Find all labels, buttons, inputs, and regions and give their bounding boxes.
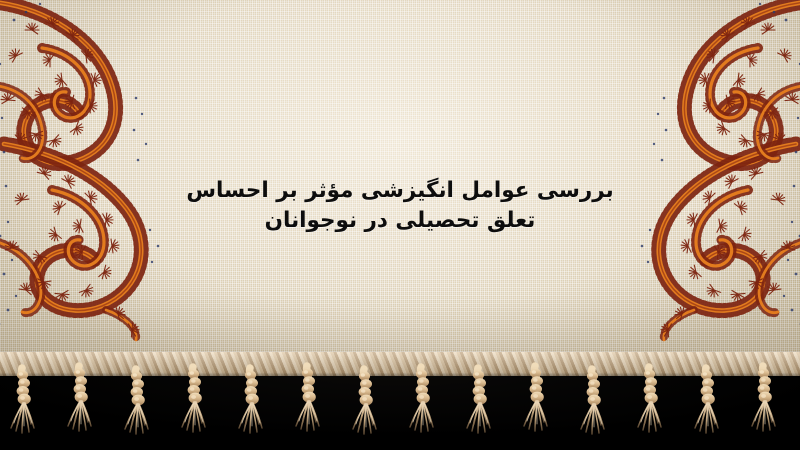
slide-title: بررسی عوامل انگیزشی مؤثر بر احساس تعلق ت… — [0, 176, 800, 236]
black-background-field — [0, 368, 800, 450]
title-slide: بررسی عوامل انگیزشی مؤثر بر احساس تعلق ت… — [0, 0, 800, 450]
title-line-1: بررسی عوامل انگیزشی مؤثر بر احساس — [0, 176, 800, 206]
title-line-2: تعلق تحصیلی در نوجوانان — [0, 206, 800, 236]
braided-edge-band — [0, 352, 800, 376]
